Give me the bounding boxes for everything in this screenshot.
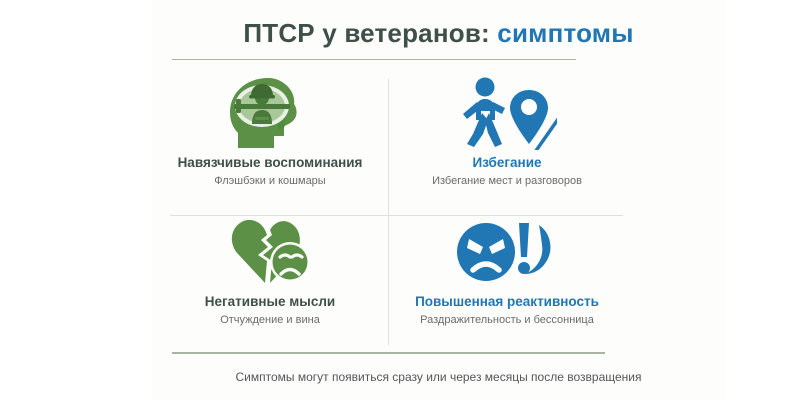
footer-note: Симптомы могут появиться сразу или через…: [152, 369, 725, 385]
symptom-card-hyperarousal[interactable]: Повышенная реактивность Раздражительност…: [389, 211, 625, 349]
page-title-accent: симптомы: [497, 18, 633, 48]
symptom-subtitle: Флэшбэки и кошмары: [152, 174, 388, 189]
head-with-soldier-icon: [152, 72, 388, 154]
page-title: ПТСР у ветеранов: симптомы: [152, 16, 725, 50]
symptom-label: Повышенная реактивность: [389, 293, 625, 310]
walking-person-no-location-icon: [389, 72, 625, 154]
infographic-canvas: ПТСР у ветеранов: симптомы: [0, 0, 800, 400]
angry-face-exclamation-moon-icon: [389, 211, 625, 293]
symptom-subtitle: Избегание мест и разговоров: [389, 174, 625, 189]
symptom-subtitle: Раздражительность и бессонница: [389, 313, 625, 328]
symptom-label: Навязчивые воспоминания: [152, 154, 388, 171]
symptom-card-negative-thoughts[interactable]: Негативные мысли Отчуждение и вина: [152, 211, 388, 349]
symptom-card-intrusive-memories[interactable]: Навязчивые воспоминания Флэшбэки и кошма…: [152, 72, 388, 210]
symptom-card-avoidance[interactable]: Избегание Избегание мест и разговоров: [389, 72, 625, 210]
title-divider: [172, 59, 576, 60]
page-title-main: ПТСР у ветеранов:: [243, 18, 490, 48]
symptom-grid: Навязчивые воспоминания Флэшбэки и кошма…: [152, 72, 725, 348]
symptom-subtitle: Отчуждение и вина: [152, 313, 388, 328]
symptom-label: Избегание: [389, 154, 625, 171]
footer-divider: [172, 352, 605, 354]
broken-heart-sad-face-icon: [152, 211, 388, 293]
symptom-label: Негативные мысли: [152, 293, 388, 310]
